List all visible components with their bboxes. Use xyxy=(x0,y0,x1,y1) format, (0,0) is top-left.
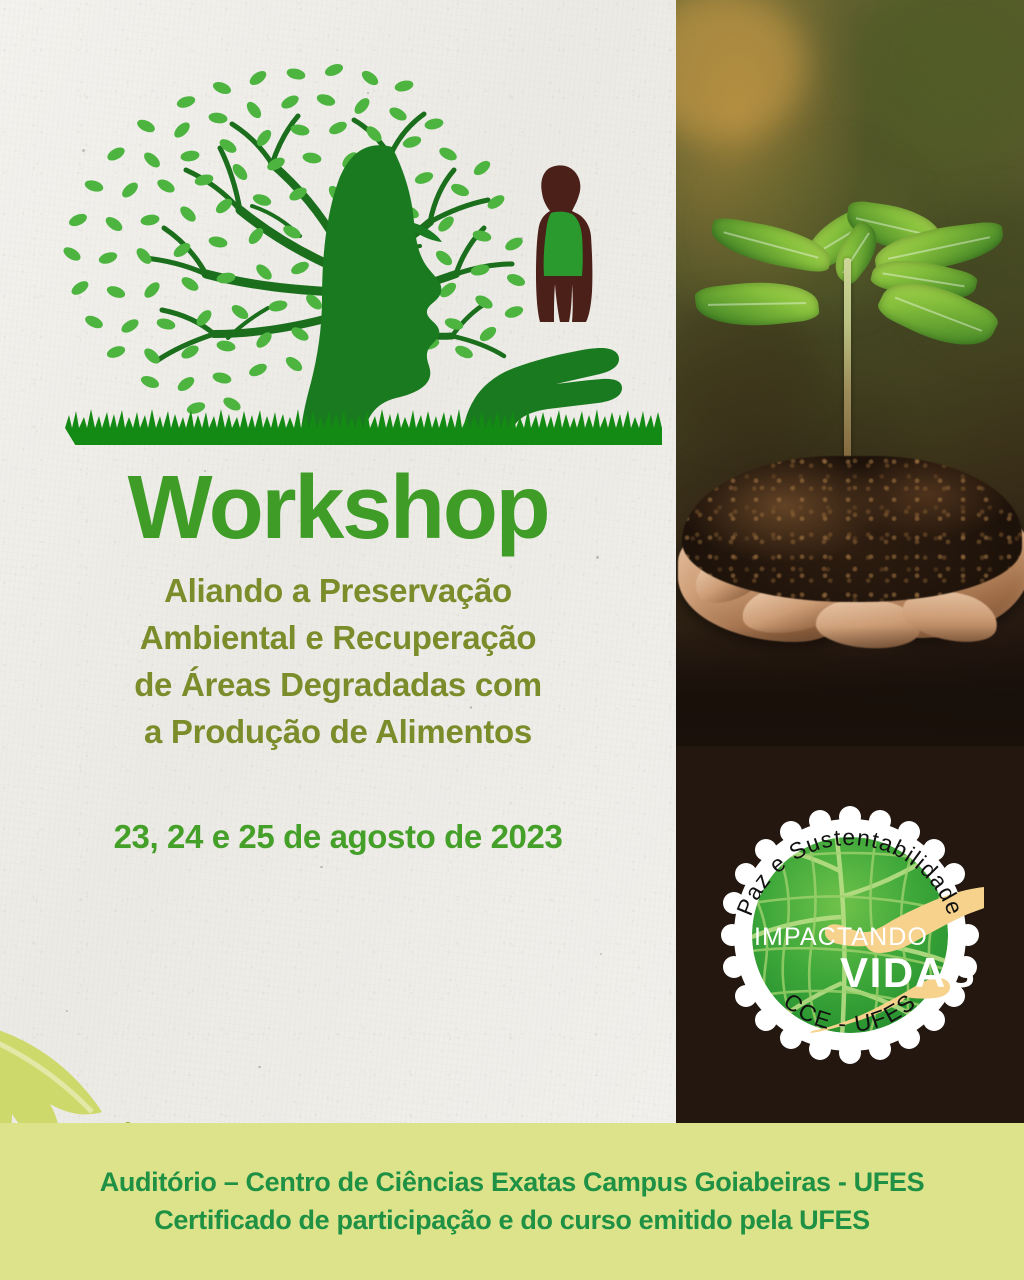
badge-center-small: IMPACTANDO xyxy=(754,923,928,951)
poster-root: Workshop Aliando a Preservação Ambiental… xyxy=(0,0,1024,1280)
hands-holding-soil-photo xyxy=(676,0,1024,746)
subtitle-line-1: Aliando a Preservação xyxy=(0,567,676,614)
page-title: Workshop xyxy=(0,463,676,553)
subtitle-line-3: de Áreas Degradadas com xyxy=(0,661,676,708)
logo-panel: IMPACTANDO VIDAS Paz e Sustentabilidade … xyxy=(676,746,1024,1123)
footer-certificate-line: Certificado de participação e do curso e… xyxy=(154,1205,870,1236)
tree-silhouette-icon xyxy=(0,30,676,445)
footer-venue-line: Auditório – Centro de Ciências Exatas Ca… xyxy=(100,1167,925,1198)
poster-subtitle: Aliando a Preservação Ambiental e Recupe… xyxy=(0,567,676,755)
subtitle-line-4: a Produção de Alimentos xyxy=(0,708,676,755)
impactando-vidas-badge: IMPACTANDO VIDAS Paz e Sustentabilidade … xyxy=(716,801,984,1069)
child-silhouette-icon xyxy=(536,165,592,322)
subtitle-line-2: Ambiental e Recuperação xyxy=(0,614,676,661)
footer-band: Auditório – Centro de Ciências Exatas Ca… xyxy=(0,1123,1024,1280)
event-dates: 23, 24 e 25 de agosto de 2023 xyxy=(0,818,676,856)
badge-center-large: VIDAS xyxy=(840,949,976,996)
